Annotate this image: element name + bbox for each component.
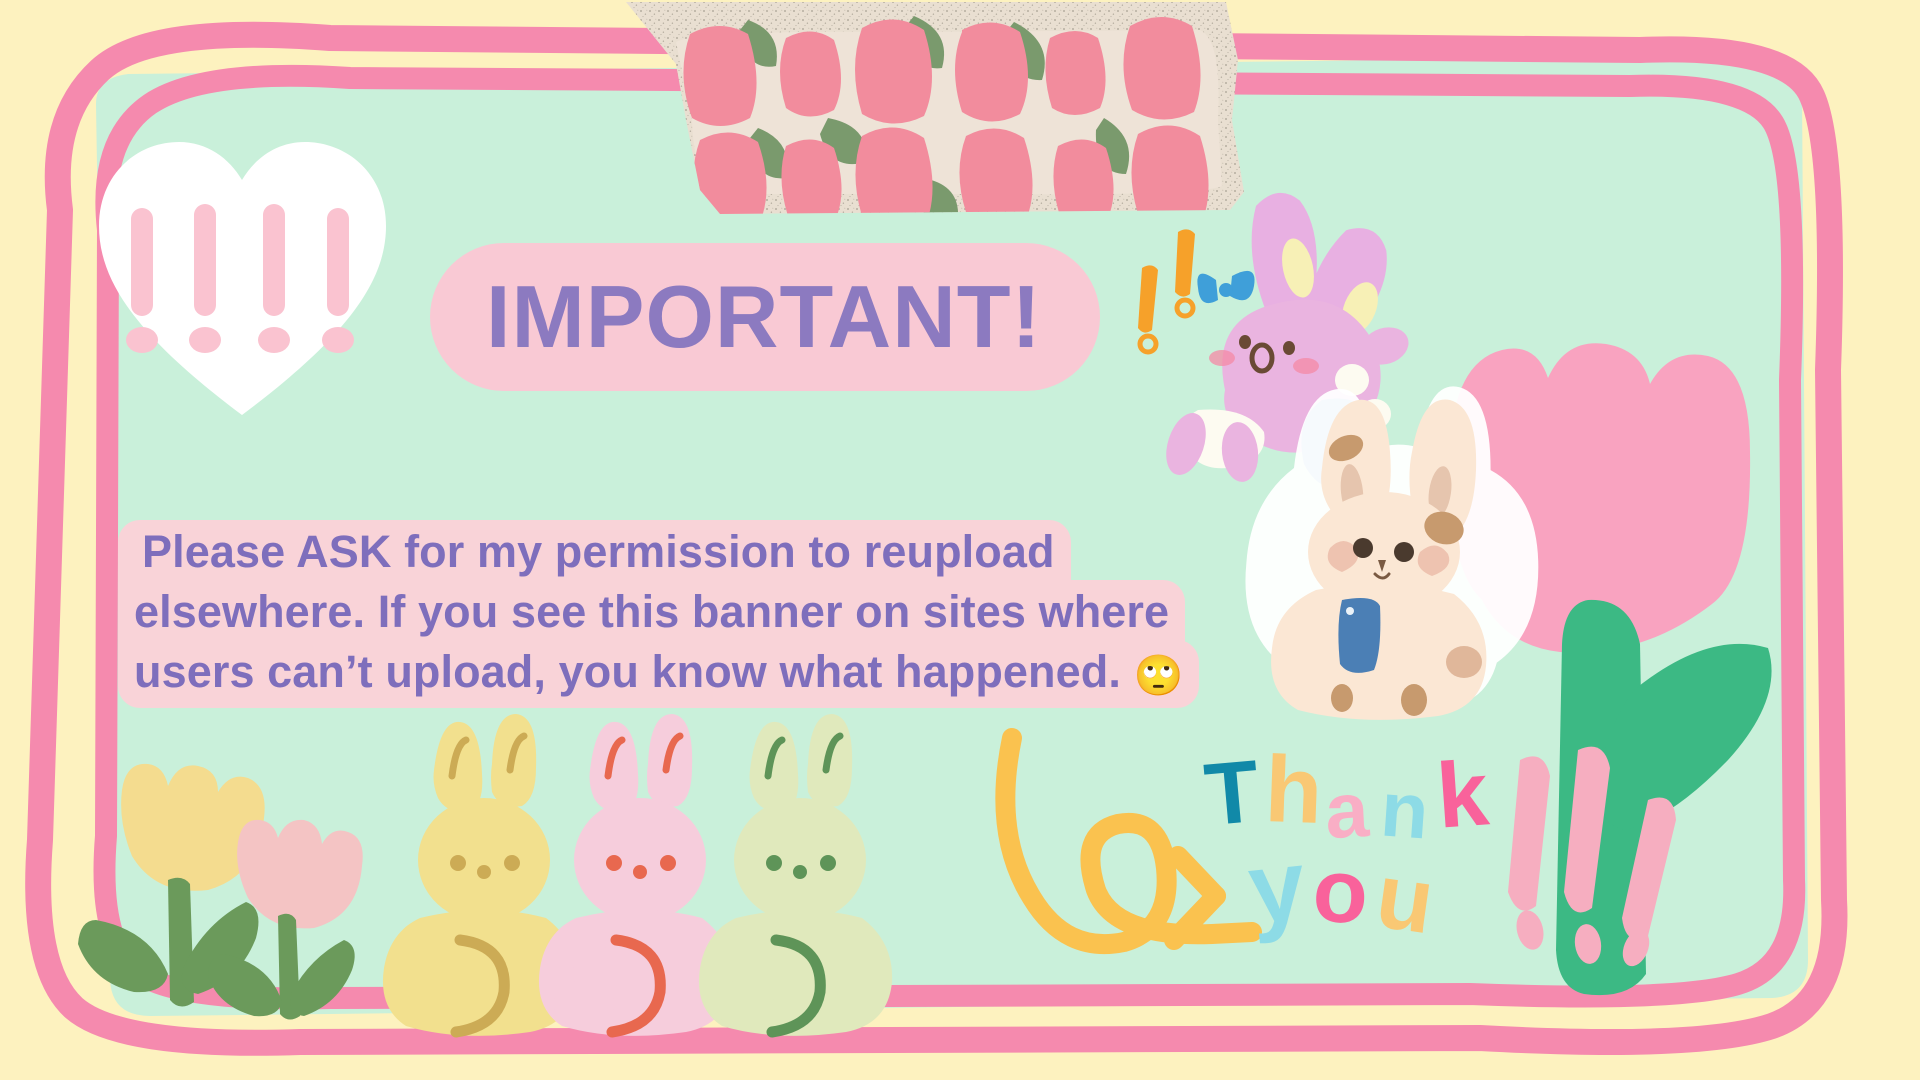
- banner-canvas: IMPORTANT!: [0, 0, 1920, 1080]
- washi-tape-tulips: [0, 0, 1920, 1080]
